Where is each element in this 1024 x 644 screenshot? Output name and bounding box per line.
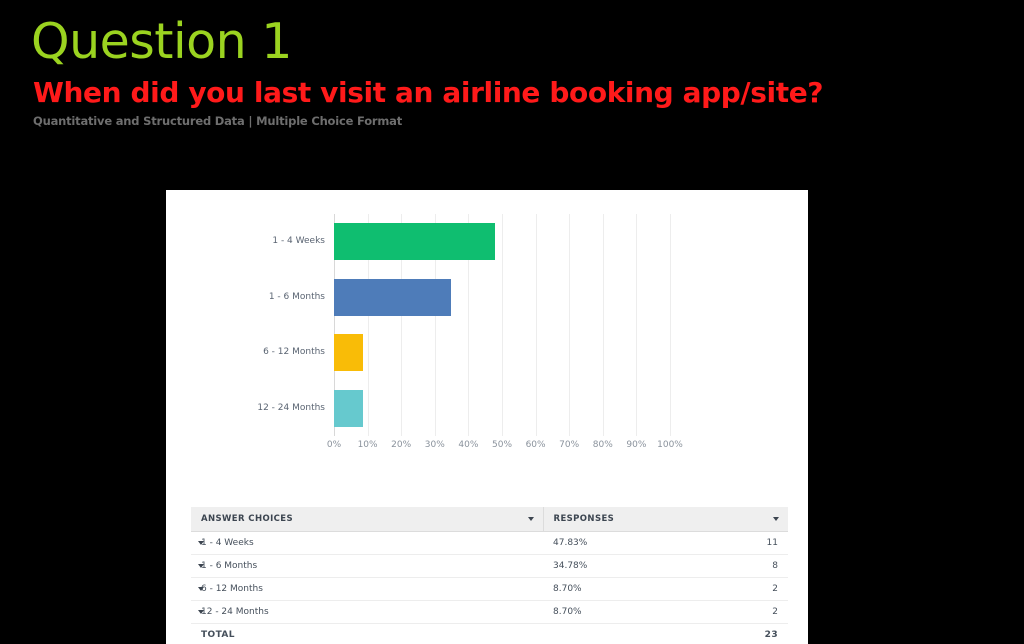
cell-response-count: 2 <box>728 601 788 624</box>
cell-response-percent: 47.83% <box>543 532 728 555</box>
table-total-row: TOTAL23 <box>191 624 788 644</box>
table-body: 1 - 4 Weeks47.83%111 - 6 Months34.78%86 … <box>191 532 788 644</box>
column-header-answer-choices[interactable]: ANSWER CHOICES <box>191 507 543 532</box>
cell-answer-choice-label: 1 - 6 Months <box>201 561 257 571</box>
bar-chart: 1 - 4 Weeks1 - 6 Months6 - 12 Months12 -… <box>166 190 808 465</box>
cell-response-percent: 8.70% <box>543 578 728 601</box>
chart-x-tick-label: 70% <box>559 440 579 450</box>
chart-x-tick-label: 50% <box>492 440 512 450</box>
cell-response-count: 11 <box>728 532 788 555</box>
cell-answer-choice: 1 - 4 Weeks <box>191 532 543 555</box>
chart-bar-row: 12 - 24 Months <box>334 390 670 427</box>
chart-x-tick-label: 80% <box>593 440 613 450</box>
chart-category-label: 1 - 6 Months <box>269 292 325 302</box>
chart-bar[interactable] <box>334 390 363 427</box>
chart-bar-row: 1 - 4 Weeks <box>334 223 670 260</box>
chart-x-tick-label: 90% <box>626 440 646 450</box>
chart-x-tick-label: 60% <box>526 440 546 450</box>
chart-category-label: 12 - 24 Months <box>257 403 325 413</box>
chart-plot-area: 1 - 4 Weeks1 - 6 Months6 - 12 Months12 -… <box>334 214 670 436</box>
cell-answer-choice: 1 - 6 Months <box>191 555 543 578</box>
table-header-row: ANSWER CHOICES RESPONSES <box>191 507 788 532</box>
chart-bar-row: 1 - 6 Months <box>334 279 670 316</box>
chart-x-tick-label: 40% <box>458 440 478 450</box>
sort-caret-icon[interactable] <box>528 517 534 521</box>
chart-x-tick-label: 10% <box>358 440 378 450</box>
question-text: When did you last visit an airline booki… <box>33 78 931 108</box>
table-row[interactable]: 12 - 24 Months8.70%2 <box>191 601 788 624</box>
cell-response-percent: 34.78% <box>543 555 728 578</box>
total-spacer <box>543 624 728 644</box>
results-card: 1 - 4 Weeks1 - 6 Months6 - 12 Months12 -… <box>166 190 808 644</box>
page-title: Question 1 <box>31 14 931 70</box>
expand-caret-icon[interactable] <box>198 610 204 614</box>
chart-x-tick-label: 30% <box>425 440 445 450</box>
chart-category-label: 6 - 12 Months <box>263 347 325 357</box>
total-label: TOTAL <box>191 624 543 644</box>
cell-response-percent: 8.70% <box>543 601 728 624</box>
table-row[interactable]: 6 - 12 Months8.70%2 <box>191 578 788 601</box>
cell-response-count: 2 <box>728 578 788 601</box>
cell-answer-choice-label: 1 - 4 Weeks <box>201 538 254 548</box>
cell-response-count: 8 <box>728 555 788 578</box>
cell-answer-choice-label: 6 - 12 Months <box>201 584 263 594</box>
chart-bar[interactable] <box>334 334 363 371</box>
cell-answer-choice: 6 - 12 Months <box>191 578 543 601</box>
chart-bar[interactable] <box>334 279 451 316</box>
expand-caret-icon[interactable] <box>198 541 204 545</box>
table-row[interactable]: 1 - 4 Weeks47.83%11 <box>191 532 788 555</box>
total-count: 23 <box>728 624 788 644</box>
question-meta: Quantitative and Structured Data | Multi… <box>33 114 931 128</box>
sort-caret-icon[interactable] <box>773 517 779 521</box>
chart-gridline <box>670 214 671 436</box>
chart-bar-row: 6 - 12 Months <box>334 334 670 371</box>
chart-x-tick-label: 0% <box>327 440 341 450</box>
results-table: ANSWER CHOICES RESPONSES 1 - 4 Weeks47.8… <box>191 507 788 644</box>
expand-caret-icon[interactable] <box>198 587 204 591</box>
column-header-responses[interactable]: RESPONSES <box>543 507 788 532</box>
chart-x-tick-label: 20% <box>391 440 411 450</box>
table-row[interactable]: 1 - 6 Months34.78%8 <box>191 555 788 578</box>
chart-x-tick-label: 100% <box>657 440 683 450</box>
cell-answer-choice-label: 12 - 24 Months <box>201 607 269 617</box>
expand-caret-icon[interactable] <box>198 564 204 568</box>
chart-bar[interactable] <box>334 223 495 260</box>
column-header-answer-choices-label: ANSWER CHOICES <box>201 514 293 524</box>
chart-category-label: 1 - 4 Weeks <box>272 236 325 246</box>
column-header-responses-label: RESPONSES <box>554 514 615 524</box>
slide-header: Question 1 When did you last visit an ai… <box>31 14 931 128</box>
cell-answer-choice: 12 - 24 Months <box>191 601 543 624</box>
